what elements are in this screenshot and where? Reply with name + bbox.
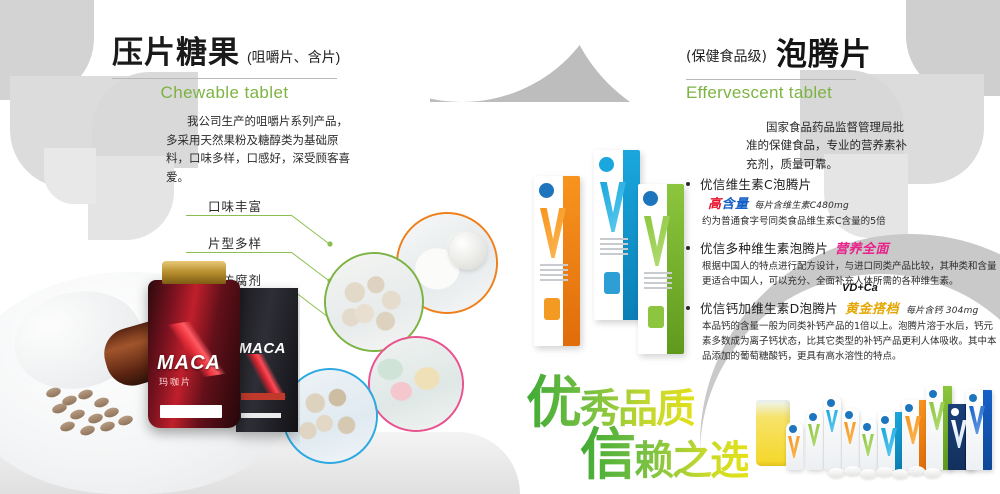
bullet-slogan-1: 高含量: [708, 193, 749, 212]
family-box-2: [902, 400, 928, 470]
bullet-slogan-2: 营养全面: [835, 238, 889, 257]
effervescent-box-group: [528, 150, 698, 355]
big-slogan-line-2: 信赖之选: [580, 410, 748, 491]
big-slogan-block: 优秀品质 信赖之选: [526, 358, 786, 476]
bullet-eyebrow-vdca: VD+Ca: [842, 282, 878, 294]
tube-5: [860, 420, 877, 470]
carton-streak: [236, 354, 298, 398]
left-title-english: Chewable tablet: [112, 83, 337, 103]
brand-logo-icon: [643, 191, 658, 206]
family-box-5: [966, 390, 992, 470]
family-box-1: [878, 412, 904, 470]
bullet-slogan-note-3: 每片含钙 304mg: [906, 303, 979, 316]
tube-1: [786, 422, 803, 470]
left-heading-block: 压片糖果 (咀嚼片、含片) Chewable tablet: [112, 38, 412, 103]
bullet-item-vitamin-c: 优信维生素C泡腾片 高含量 每片含维生素C480mg 约为普通食字号同类食品维生…: [686, 174, 1000, 229]
carton-brand: MACA: [239, 340, 286, 357]
bullet-item-calcium-vd: 优信钙加维生素D泡腾片 黄金搭档 每片含钙 304mg 本品钙的含量一般为同类补…: [686, 298, 1000, 364]
bullet-title-1: 优信维生素C泡腾片: [700, 174, 811, 193]
box-text-lines: [644, 272, 672, 292]
maca-bottle: MACA 玛咖片: [148, 280, 240, 428]
box-text-lines: [540, 264, 568, 284]
effervescent-box-blue: [594, 150, 640, 320]
tube-3: [824, 396, 841, 470]
tube-2: [806, 410, 823, 470]
right-title-divider: [686, 79, 856, 80]
box-fruit-icon: [544, 298, 560, 320]
tablet-photo-pink-image: [370, 338, 462, 430]
drink-glass: [756, 400, 790, 466]
left-title-sub: (咀嚼片、含片): [247, 47, 340, 69]
product-family-photo: [756, 366, 988, 484]
bullet-dot-icon: [686, 182, 690, 186]
carton-label-bar: [241, 413, 281, 418]
effervescent-box-orange: [534, 176, 580, 346]
right-paragraph: 国家食品药品监督管理局批准的保健食品，专业的营养素补充剂，质量可靠。: [746, 118, 908, 173]
brand-logo-icon: [539, 183, 554, 198]
box-fruit-icon: [604, 272, 620, 294]
maca-carton: MACA: [236, 288, 298, 432]
bullet-slogan-3: 黄金搭档: [845, 298, 899, 317]
right-title-sub: (保健食品级): [686, 46, 767, 71]
bullet-title-2: 优信多种维生素泡腾片: [700, 238, 828, 257]
left-title-main: 压片糖果: [112, 38, 240, 69]
right-bullet-list: 优信维生素C泡腾片 高含量 每片含维生素C480mg 约为普通食字号同类食品维生…: [686, 174, 1000, 373]
bullet-title-3: 优信钙加维生素D泡腾片: [700, 298, 838, 317]
bottle-label-bar: [160, 405, 222, 418]
box-side-panel: [563, 176, 580, 346]
bullet-slogan-note-1: 每片含维生素C480mg: [755, 198, 849, 211]
bullet-dot-icon: [686, 246, 690, 250]
left-paragraph: 我公司生产的咀嚼片系列产品，多采用天然果粉及糖醇类为基础原料，口味多样，口感好，…: [166, 112, 352, 187]
box-fruit-icon: [648, 306, 664, 328]
bullet-desc-1: 约为普通食字号同类食品维生素C含量的5倍: [702, 214, 1000, 229]
brand-logo-icon: [599, 157, 614, 172]
bullet-dot-icon: [686, 306, 690, 310]
bottle-brand: MACA: [157, 352, 221, 375]
right-title-english: Effervescent tablet: [686, 83, 986, 103]
right-heading-block: (保健食品级) 泡腾片 Effervescent tablet: [686, 40, 986, 103]
right-title-main: 泡腾片: [776, 40, 872, 71]
tablet-photo-pink: [368, 336, 464, 432]
effervescent-box-green: [638, 184, 684, 354]
maca-product-photo: MACA MACA 玛咖片: [0, 236, 300, 494]
left-title-divider: [112, 78, 337, 79]
bottle-brand-cn: 玛咖片: [159, 375, 192, 388]
tube-4: [842, 408, 859, 470]
bottle-cap: [162, 261, 226, 284]
carton-accent-bar: [241, 393, 285, 400]
loose-effervescent-tablets: [828, 466, 960, 480]
box-side-panel: [667, 184, 684, 354]
box-text-lines: [600, 238, 628, 258]
